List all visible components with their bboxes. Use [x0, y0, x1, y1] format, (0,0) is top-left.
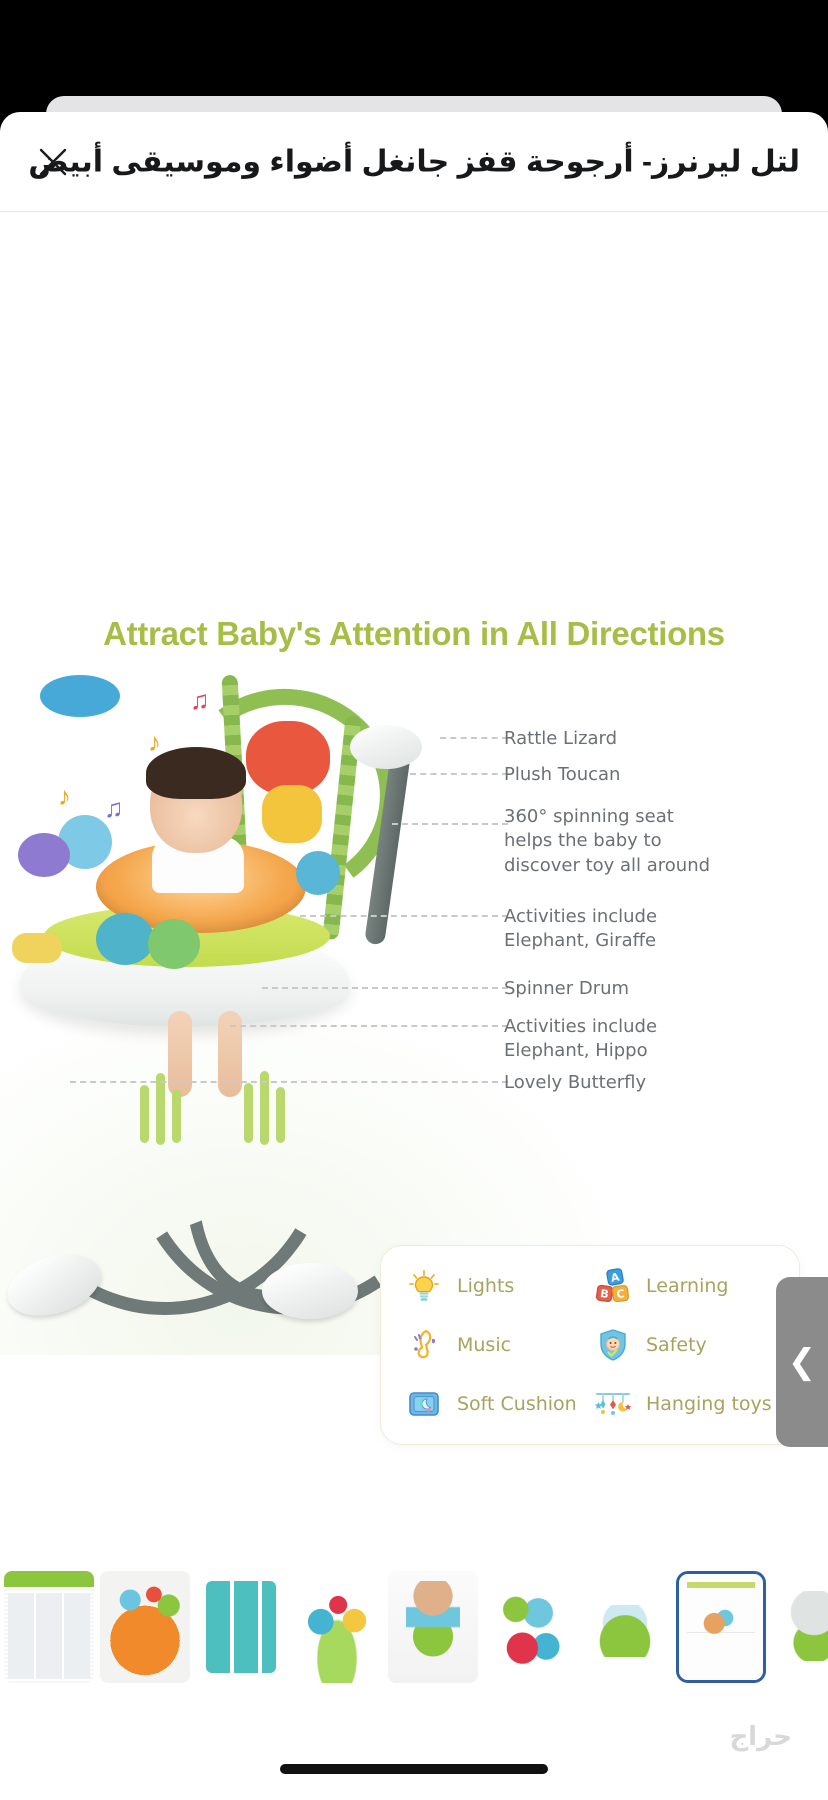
thumb-spinner-base[interactable]: [580, 1571, 670, 1683]
image-viewer-sheet: لتل ليرنرز- أرجوحة قفز جانغل أضواء وموسي…: [0, 112, 828, 1800]
callout-leader: [70, 1081, 508, 1083]
feature-highlights-card: Lights A B: [380, 1245, 800, 1445]
jumper-foot: [262, 1263, 358, 1319]
feature-label: Soft Cushion: [457, 1393, 577, 1415]
lightbulb-icon: [403, 1265, 445, 1307]
music-note-decoration: ♪: [58, 781, 71, 812]
callout-leader: [300, 915, 508, 917]
thumb-feature-grid[interactable]: [196, 1571, 286, 1683]
svg-text:B: B: [599, 1287, 609, 1301]
pole-knob: [350, 725, 422, 769]
callout-plush-toucan: Plush Toucan: [504, 763, 620, 787]
callout-rattle-lizard: Rattle Lizard: [504, 727, 617, 751]
feature-label: Safety: [646, 1334, 707, 1356]
pillow-icon: [403, 1383, 445, 1425]
gallery-prev-button[interactable]: ❮: [776, 1277, 828, 1447]
toy-plush-toucan: [246, 721, 330, 795]
grass-decoration: [172, 1089, 181, 1143]
home-indicator[interactable]: [280, 1764, 548, 1774]
callout-leader: [392, 823, 508, 825]
music-note-decoration: ♫: [190, 685, 210, 716]
music-note-decoration: ♫: [104, 793, 124, 824]
callout-lovely-butterfly: Lovely Butterfly: [504, 1071, 646, 1095]
promo-graphic: Attract Baby's Attention in All Directio…: [0, 615, 828, 1355]
callout-spinning-seat: 360° spinning seat helps the baby to dis…: [504, 805, 710, 878]
baby-hair: [146, 747, 246, 799]
toy-rattle-lizard: [40, 675, 120, 717]
baby-leg: [218, 1011, 242, 1097]
site-watermark: حراج: [729, 1721, 792, 1752]
svg-text:C: C: [616, 1287, 625, 1301]
feature-safety: Safety: [592, 1324, 781, 1366]
phone-screen: لتل ليرنرز- أرجوحة قفز جانغل أضواء وموسي…: [0, 0, 828, 1800]
toy-elephant: [96, 913, 154, 965]
feature-hanging-toys: Hanging toys: [592, 1383, 781, 1425]
feature-label: Learning: [646, 1275, 729, 1297]
feature-learning: A B C: [592, 1265, 781, 1307]
thumb-playmat[interactable]: [100, 1571, 190, 1683]
callout-leader: [440, 737, 508, 739]
toy-giraffe: [12, 933, 62, 963]
thumb-side-view[interactable]: [772, 1571, 828, 1683]
feature-label: Hanging toys: [646, 1393, 772, 1415]
grass-decoration: [156, 1073, 165, 1145]
thumbnail-strip[interactable]: [0, 1564, 828, 1690]
promo-headline: Attract Baby's Attention in All Directio…: [0, 615, 828, 653]
feature-music: Music: [403, 1324, 592, 1366]
grass-decoration: [140, 1085, 149, 1143]
shield-baby-icon: [592, 1324, 634, 1366]
callout-leader: [230, 1025, 508, 1027]
grass-decoration: [244, 1083, 253, 1143]
callout-activities-elephant-giraffe: Activities include Elephant, Giraffe: [504, 905, 657, 954]
music-note-decoration: ♪: [148, 727, 161, 758]
product-image-stage[interactable]: Attract Baby's Attention in All Directio…: [0, 325, 828, 1501]
toy-yellow-plush: [262, 785, 322, 843]
toy-spinner-drum: [296, 851, 340, 895]
feature-lights: Lights: [403, 1265, 592, 1307]
thumb-attention-diagram[interactable]: [676, 1571, 766, 1683]
music-note-icon: [403, 1324, 445, 1366]
grass-decoration: [276, 1087, 285, 1143]
feature-label: Lights: [457, 1275, 514, 1297]
hanging-toys-icon: [592, 1383, 634, 1425]
thumb-baby-in-jumper[interactable]: [388, 1571, 478, 1683]
viewer-header: لتل ليرنرز- أرجوحة قفز جانغل أضواء وموسي…: [0, 112, 828, 212]
thumb-installation-steps[interactable]: [4, 1571, 94, 1683]
toy-butterfly: [18, 833, 70, 877]
feature-soft-cushion: Soft Cushion: [403, 1383, 592, 1425]
callout-leader: [410, 773, 508, 775]
thumb-toy-arch[interactable]: [292, 1571, 382, 1683]
callout-leader: [262, 987, 508, 989]
callout-activities-elephant-hippo: Activities include Elephant, Hippo: [504, 1015, 657, 1064]
feature-label: Music: [457, 1334, 511, 1356]
baby-leg: [168, 1011, 192, 1097]
thumb-toucan-detail[interactable]: [484, 1571, 574, 1683]
callout-spinner-drum: Spinner Drum: [504, 977, 629, 1001]
abc-blocks-icon: A B C: [592, 1265, 634, 1307]
page-title: لتل ليرنرز- أرجوحة قفز جانغل أضواء وموسي…: [88, 144, 800, 179]
toy-hippo: [148, 919, 200, 969]
